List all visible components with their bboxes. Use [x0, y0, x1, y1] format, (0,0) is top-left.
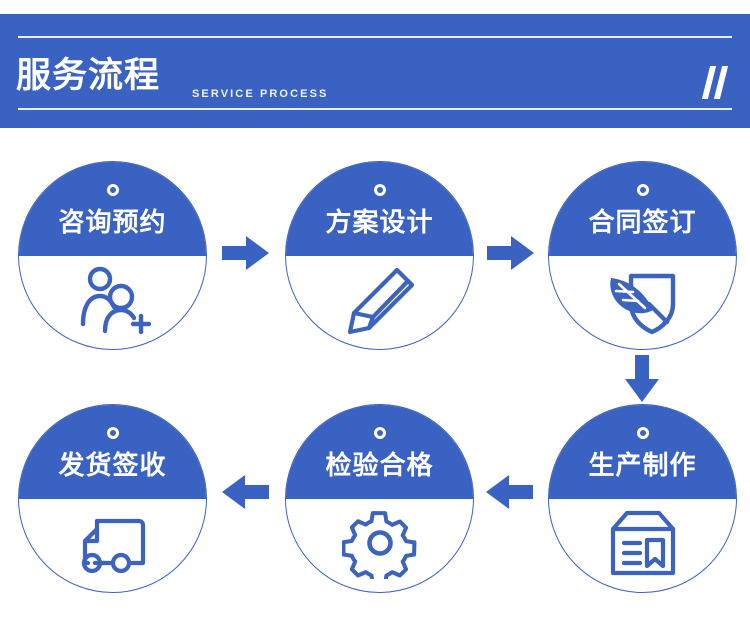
- header-banner: 服务流程 SERVICE PROCESS: [0, 14, 750, 128]
- circle-marker-icon: [107, 427, 119, 439]
- step-label: 发货签收: [19, 449, 206, 481]
- gear-icon: [342, 507, 418, 579]
- step-label: 方案设计: [286, 206, 473, 238]
- banner-rule-top: [18, 36, 732, 38]
- step-label: 咨询预约: [19, 206, 206, 238]
- circle-marker-icon: [637, 427, 649, 439]
- step-header-fill: 检验合格: [286, 405, 473, 499]
- double-slash-icon: [698, 66, 732, 100]
- page-title: 服务流程: [16, 55, 160, 97]
- circle-marker-icon: [637, 184, 649, 196]
- step-header-fill: 方案设计: [286, 162, 473, 256]
- pencil-icon: [342, 264, 418, 336]
- flow-step-1[interactable]: 咨询预约: [18, 161, 207, 350]
- page-subtitle: SERVICE PROCESS: [192, 87, 328, 101]
- step-label: 生产制作: [549, 449, 736, 481]
- package-box-icon: [605, 507, 681, 579]
- arrow-left-icon-2: [220, 472, 270, 512]
- step-header-fill: 合同签订: [549, 162, 736, 256]
- flow-step-2[interactable]: 方案设计: [285, 161, 474, 350]
- flow-step-4[interactable]: 生产制作: [548, 404, 737, 593]
- quill-shield-icon: [605, 264, 681, 336]
- circle-marker-icon: [374, 184, 386, 196]
- arrow-right-icon-1: [222, 233, 270, 273]
- step-header-fill: 发货签收: [19, 405, 206, 499]
- arrow-right-icon-2: [487, 233, 535, 273]
- step-header-fill: 咨询预约: [19, 162, 206, 256]
- arrow-down-icon: [622, 355, 662, 403]
- step-header-fill: 生产制作: [549, 405, 736, 499]
- banner-rule-bottom: [18, 108, 732, 110]
- circle-marker-icon: [374, 427, 386, 439]
- add-user-icon: [75, 264, 151, 336]
- service-process-infographic: 服务流程 SERVICE PROCESS 咨询预约: [0, 0, 750, 621]
- step-label: 合同签订: [549, 206, 736, 238]
- circle-marker-icon: [107, 184, 119, 196]
- flow-step-3[interactable]: 合同签订: [548, 161, 737, 350]
- flow-step-5[interactable]: 检验合格: [285, 404, 474, 593]
- delivery-truck-icon: [75, 507, 151, 579]
- arrow-left-icon-1: [484, 472, 534, 512]
- flow-step-6[interactable]: 发货签收: [18, 404, 207, 593]
- step-label: 检验合格: [286, 449, 473, 481]
